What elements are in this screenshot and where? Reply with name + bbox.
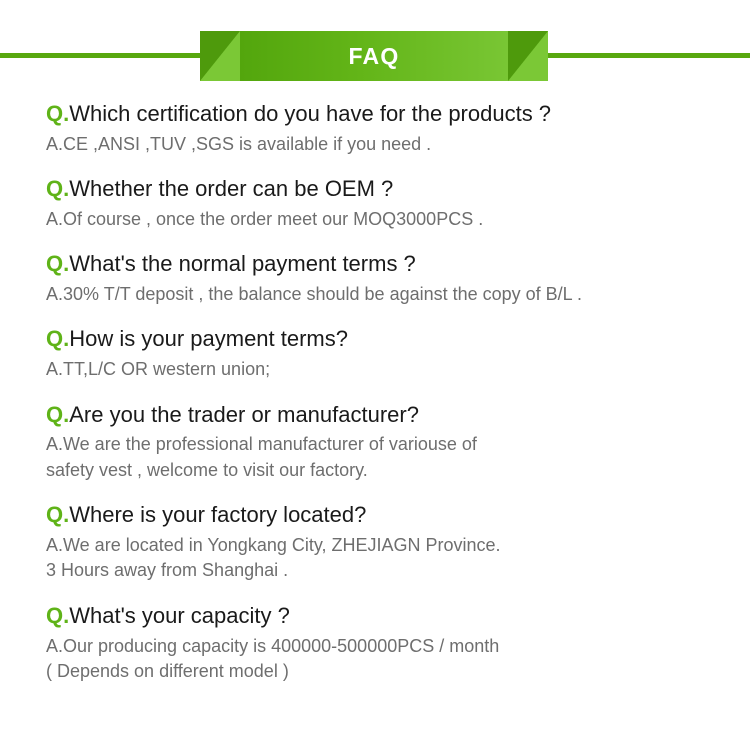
faq-answer-line: A.Of course , once the order meet our MO…	[46, 207, 746, 233]
faq-answer-line: A.30% T/T deposit , the balance should b…	[46, 282, 746, 308]
ribbon-left-cap	[200, 31, 240, 81]
faq-item: Q.What's your capacity ?A.Our producing …	[46, 602, 746, 685]
faq-question: Q.Where is your factory located?	[46, 501, 746, 530]
faq-answer-line: ( Depends on different model )	[46, 659, 746, 685]
faq-item: Q.Which certification do you have for th…	[46, 100, 746, 157]
faq-answer: A.30% T/T deposit , the balance should b…	[46, 282, 746, 308]
faq-answer-line: A.We are located in Yongkang City, ZHEJI…	[46, 533, 746, 559]
question-marker: Q.	[46, 101, 69, 126]
faq-question-text: Which certification do you have for the …	[69, 101, 551, 126]
faq-answer: A.CE ,ANSI ,TUV ,SGS is available if you…	[46, 132, 746, 158]
faq-item: Q.How is your payment terms?A.TT,L/C OR …	[46, 325, 746, 382]
faq-answer: A.Our producing capacity is 400000-50000…	[46, 634, 746, 685]
faq-answer: A.We are located in Yongkang City, ZHEJI…	[46, 533, 746, 584]
faq-list: Q.Which certification do you have for th…	[46, 100, 746, 703]
faq-question-text: How is your payment terms?	[69, 326, 348, 351]
faq-item: Q.Whether the order can be OEM ?A.Of cou…	[46, 175, 746, 232]
faq-answer: A.Of course , once the order meet our MO…	[46, 207, 746, 233]
page-title: FAQ	[349, 45, 400, 68]
faq-question: Q.Whether the order can be OEM ?	[46, 175, 746, 204]
faq-answer-line: A.Our producing capacity is 400000-50000…	[46, 634, 746, 660]
faq-answer-line: A.CE ,ANSI ,TUV ,SGS is available if you…	[46, 132, 746, 158]
faq-answer-line: A.TT,L/C OR western union;	[46, 357, 746, 383]
faq-question-text: Where is your factory located?	[69, 502, 366, 527]
faq-answer-line: A.We are the professional manufacturer o…	[46, 432, 746, 458]
question-marker: Q.	[46, 603, 69, 628]
faq-question-text: Whether the order can be OEM ?	[69, 176, 393, 201]
faq-item: Q.What's the normal payment terms ?A.30%…	[46, 250, 746, 307]
faq-question-text: What's your capacity ?	[69, 603, 290, 628]
faq-question-text: What's the normal payment terms ?	[69, 251, 416, 276]
ribbon-right-cap	[508, 31, 548, 81]
faq-answer: A.TT,L/C OR western union;	[46, 357, 746, 383]
faq-question: Q.How is your payment terms?	[46, 325, 746, 354]
faq-question: Q.What's the normal payment terms ?	[46, 250, 746, 279]
question-marker: Q.	[46, 326, 69, 351]
question-marker: Q.	[46, 402, 69, 427]
faq-question: Q.Which certification do you have for th…	[46, 100, 746, 129]
faq-header-banner: FAQ	[0, 0, 750, 96]
question-marker: Q.	[46, 502, 69, 527]
faq-question: Q.What's your capacity ?	[46, 602, 746, 631]
faq-answer-line: safety vest , welcome to visit our facto…	[46, 458, 746, 484]
faq-item: Q.Are you the trader or manufacturer?A.W…	[46, 401, 746, 484]
question-marker: Q.	[46, 176, 69, 201]
question-marker: Q.	[46, 251, 69, 276]
faq-question-text: Are you the trader or manufacturer?	[69, 402, 419, 427]
faq-item: Q.Where is your factory located?A.We are…	[46, 501, 746, 584]
faq-answer-line: 3 Hours away from Shanghai .	[46, 558, 746, 584]
faq-question: Q.Are you the trader or manufacturer?	[46, 401, 746, 430]
ribbon-center-bar: FAQ	[240, 31, 508, 81]
faq-answer: A.We are the professional manufacturer o…	[46, 432, 746, 483]
faq-ribbon: FAQ	[200, 31, 548, 81]
